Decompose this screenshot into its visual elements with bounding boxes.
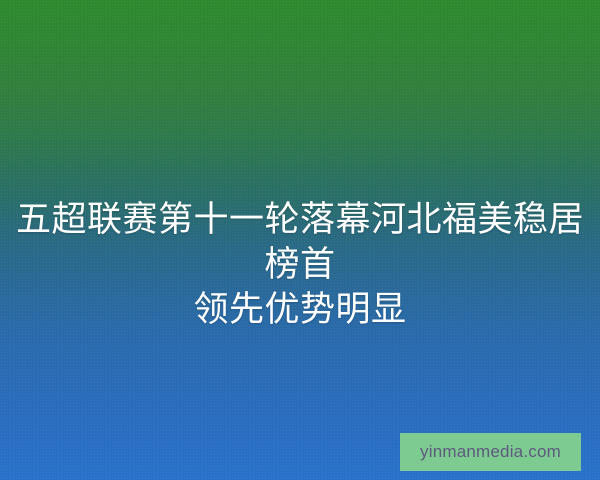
watermark-badge: yinmanmedia.com (400, 433, 581, 471)
headline-line-2: 领先优势明显 (14, 288, 586, 333)
watermark-domain-label: yinmanmedia.com (420, 442, 561, 462)
headline-line-1: 五超联赛第十一轮落幕河北福美稳居榜首 (14, 198, 586, 288)
headline-title: 五超联赛第十一轮落幕河北福美稳居榜首 领先优势明显 (0, 198, 600, 333)
article-cover-banner: 五超联赛第十一轮落幕河北福美稳居榜首 领先优势明显 yinmanmedia.co… (0, 0, 600, 480)
